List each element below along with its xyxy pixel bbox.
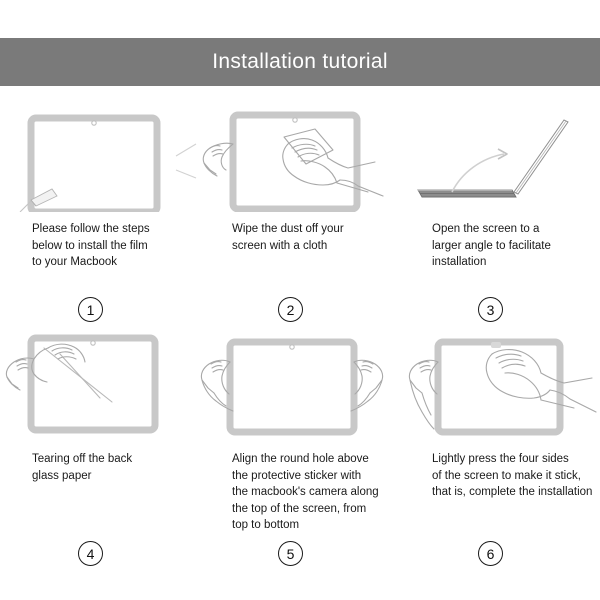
- step-1-caption: Please follow the steps below to install…: [32, 221, 204, 271]
- step-2-caption: Wipe the dust off your screen with a clo…: [232, 221, 404, 254]
- step-number-badge: 2: [278, 297, 303, 322]
- tutorial-page: Installation tutorial: [0, 0, 600, 600]
- steps-grid: Please follow the steps below to install…: [0, 100, 600, 570]
- steps-row-2: Tearing off the back glass paper 4: [0, 330, 600, 570]
- step-6-number-wrap: 6: [400, 541, 600, 566]
- screen-with-peeling-film-corner-icon: [0, 100, 200, 212]
- step-5-number-wrap: 5: [200, 541, 400, 566]
- step-panel-5: Align the round hole above the protectiv…: [200, 330, 400, 570]
- laptop-side-view-opening-screen-icon: [400, 100, 600, 212]
- step-5-caption: Align the round hole above the protectiv…: [232, 451, 404, 534]
- step-number-badge: 4: [78, 541, 103, 566]
- two-hands-aligning-film-on-screen-icon: [200, 330, 400, 442]
- step-4-illustration: [0, 330, 200, 442]
- step-3-number-wrap: 3: [400, 297, 600, 322]
- step-3-illustration: [400, 100, 600, 212]
- step-number-badge: 6: [478, 541, 503, 566]
- step-number-badge: 5: [278, 541, 303, 566]
- step-4-caption: Tearing off the back glass paper: [32, 451, 204, 484]
- step-panel-4: Tearing off the back glass paper 4: [0, 330, 200, 570]
- hand-wiping-screen-with-cloth-icon: [200, 100, 400, 212]
- header-bar: Installation tutorial: [0, 38, 600, 86]
- hand-pressing-film-edges-icon: [400, 330, 600, 442]
- step-2-illustration: [200, 100, 400, 212]
- step-1-illustration: [0, 100, 200, 212]
- step-panel-3: Open the screen to a larger angle to fac…: [400, 100, 600, 330]
- step-number-badge: 3: [478, 297, 503, 322]
- step-5-illustration: [200, 330, 400, 442]
- step-3-caption: Open the screen to a larger angle to fac…: [432, 221, 600, 271]
- page-title: Installation tutorial: [212, 50, 388, 74]
- steps-row-1: Please follow the steps below to install…: [0, 100, 600, 330]
- step-6-illustration: [400, 330, 600, 442]
- hand-tearing-backing-paper-icon: [0, 330, 200, 442]
- step-number-badge: 1: [78, 297, 103, 322]
- step-1-number-wrap: 1: [0, 297, 200, 322]
- step-panel-2: Wipe the dust off your screen with a clo…: [200, 100, 400, 330]
- step-4-number-wrap: 4: [0, 541, 200, 566]
- step-6-caption: Lightly press the four sides of the scre…: [432, 451, 600, 501]
- step-panel-6: Lightly press the four sides of the scre…: [400, 330, 600, 570]
- step-2-number-wrap: 2: [200, 297, 400, 322]
- step-panel-1: Please follow the steps below to install…: [0, 100, 200, 330]
